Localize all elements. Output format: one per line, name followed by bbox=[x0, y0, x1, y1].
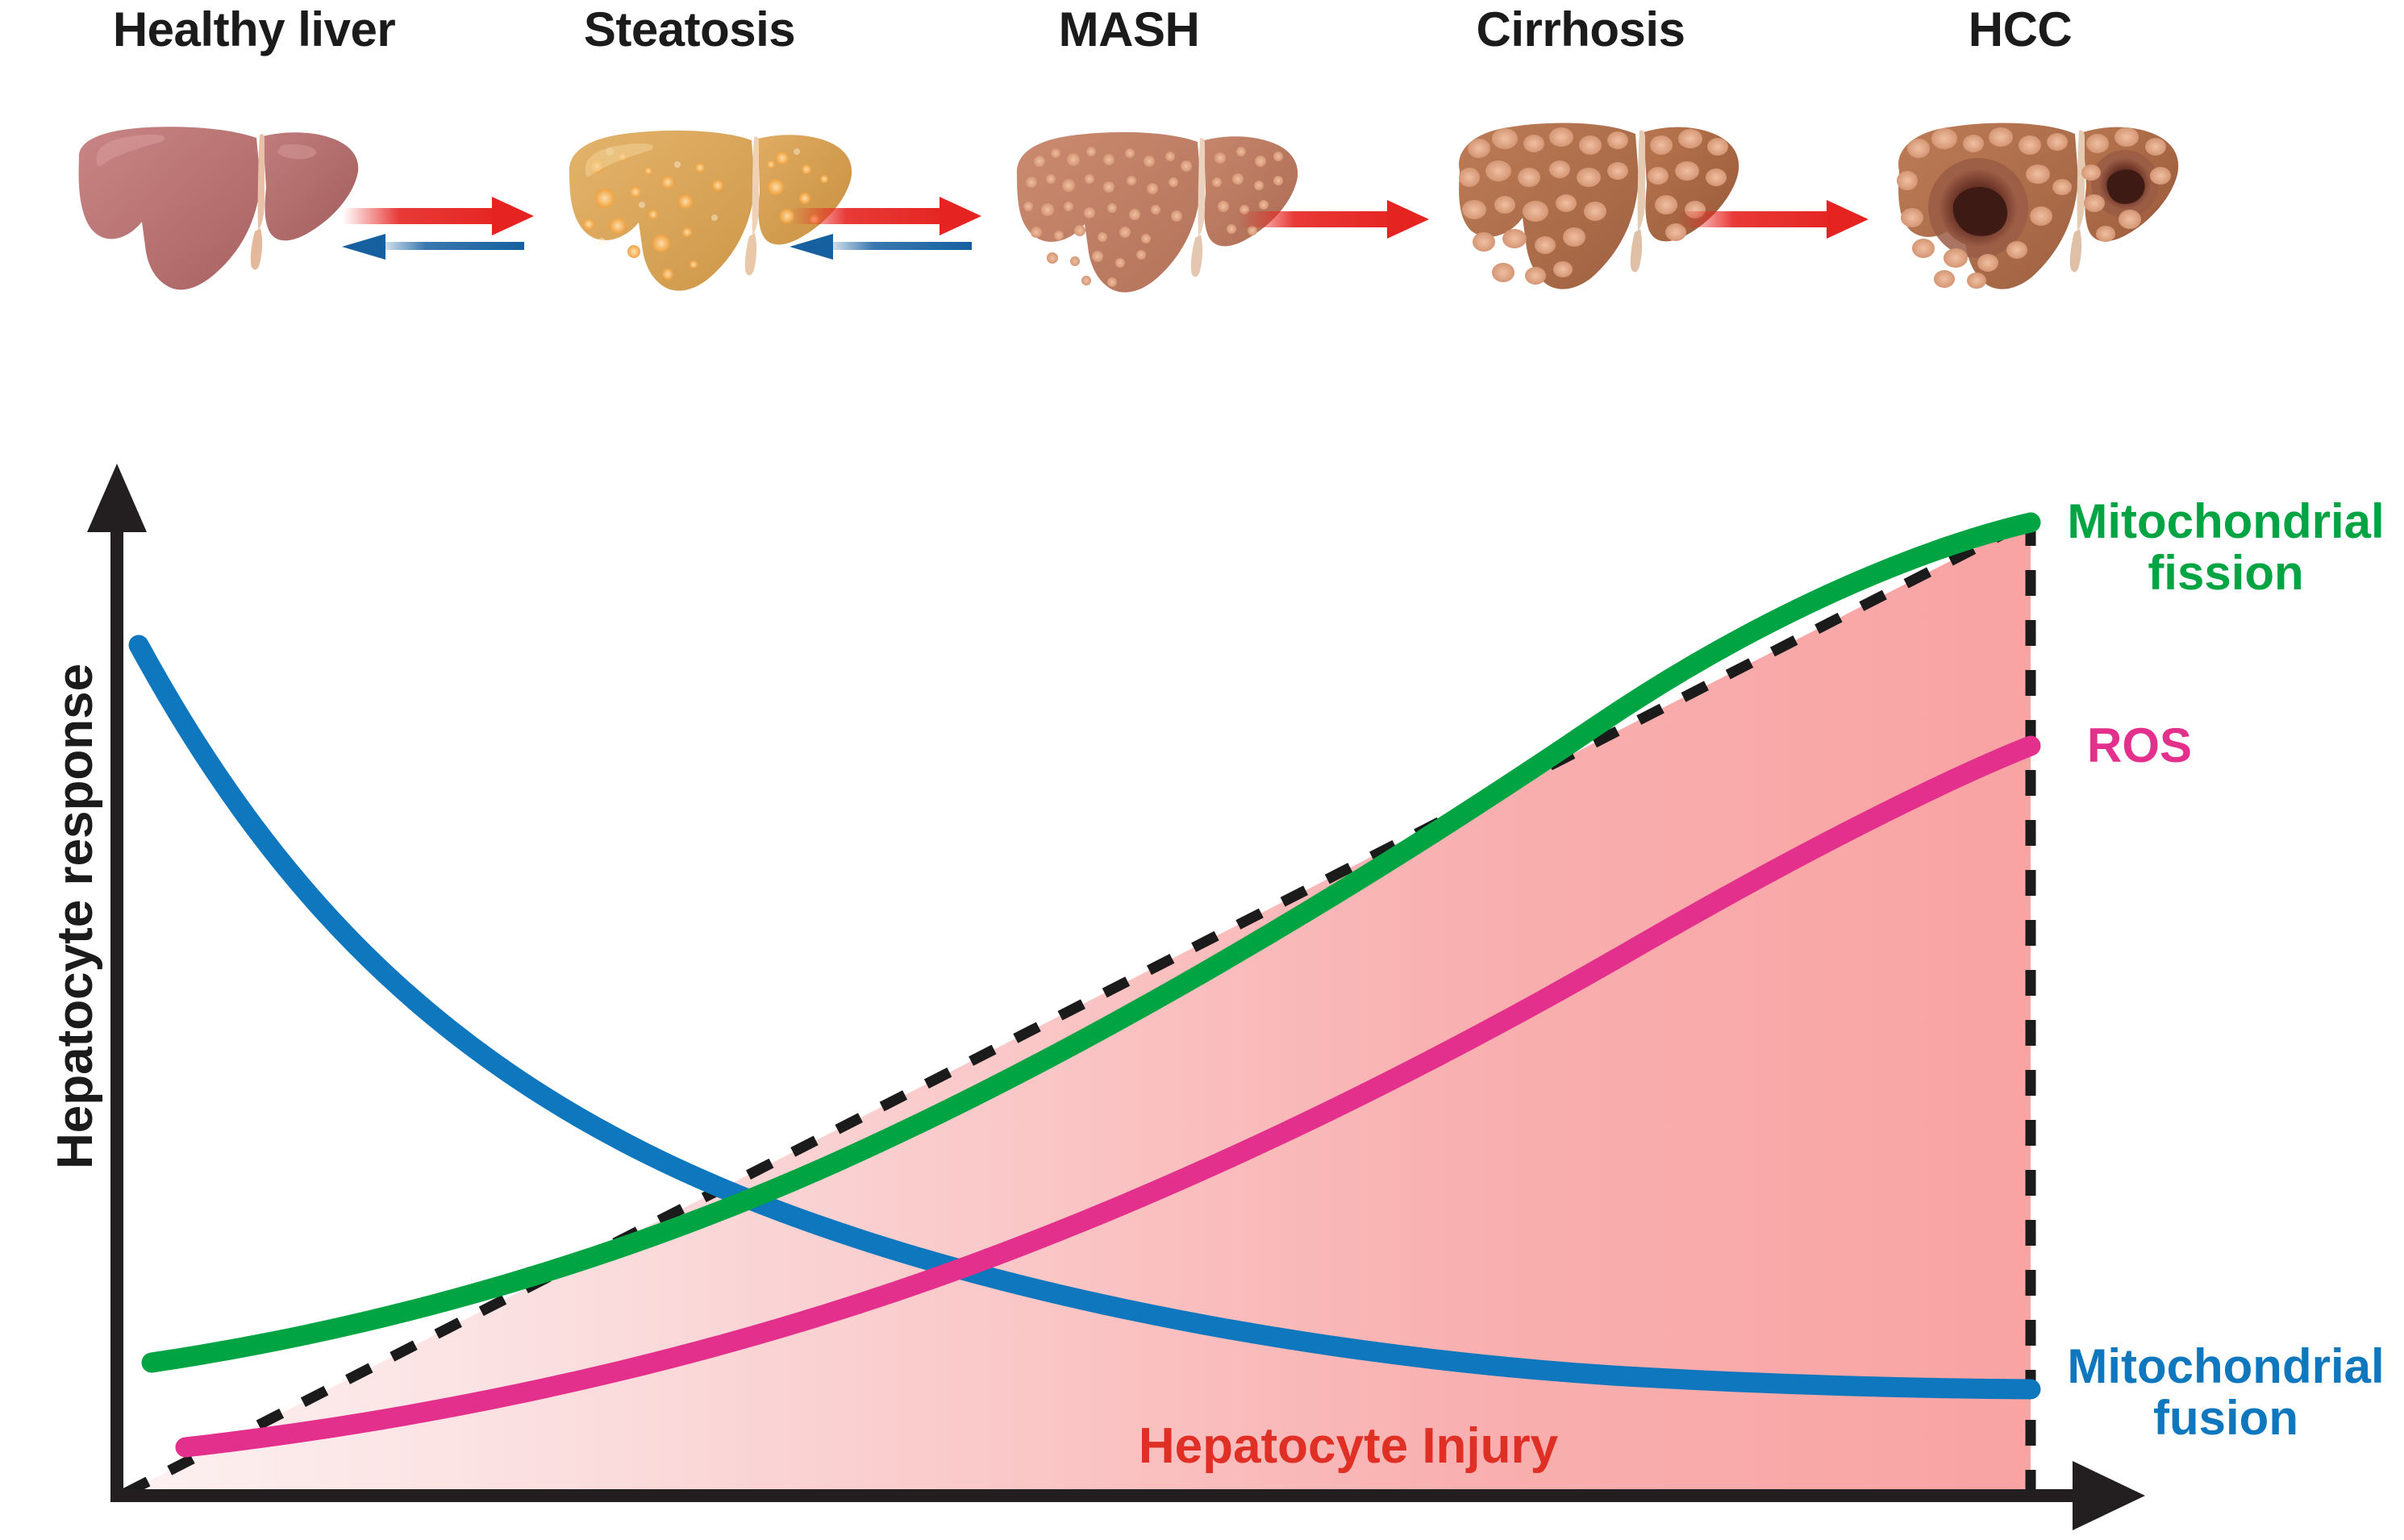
figure-canvas: Healthy liver Steatosis MASH Cirrhosis H… bbox=[0, 0, 2404, 1540]
legend-fusion-line2: fusion bbox=[2064, 1392, 2387, 1444]
legend-ros: ROS bbox=[2087, 720, 2192, 772]
legend-mitochondrial-fission: Mitochondrial fission bbox=[2064, 496, 2387, 598]
legend-fission-line1: Mitochondrial bbox=[2064, 496, 2387, 547]
legend-mitochondrial-fusion: Mitochondrial fusion bbox=[2064, 1341, 2387, 1443]
y-axis-title: Hepatocyte response bbox=[47, 664, 104, 1169]
hepatocyte-injury-annotation: Hepatocyte Injury bbox=[1139, 1417, 1558, 1475]
legend-fission-line2: fission bbox=[2064, 547, 2387, 599]
chart-svg bbox=[0, 0, 2404, 1540]
legend-fusion-line1: Mitochondrial bbox=[2064, 1341, 2387, 1392]
